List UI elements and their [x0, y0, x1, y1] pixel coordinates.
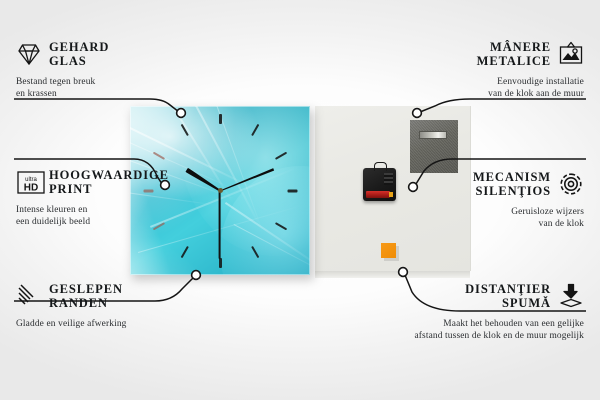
- feature-subtitle-line1: Gladde en veilige afwerking: [16, 319, 216, 331]
- feature-title-line1: GESLEPEN: [49, 282, 123, 296]
- feature-subtitle-line2: en krassen: [16, 89, 206, 101]
- feature-title-line1: HOOGWAARDIGE: [49, 168, 169, 182]
- feature-title-line1: GEHARD: [49, 40, 109, 54]
- feature-subtitle-line1: Bestand tegen breuk: [16, 77, 206, 89]
- feature-title-line2: PRINT: [49, 182, 169, 196]
- ultra-hd-icon: ultra HD: [16, 169, 42, 195]
- hanger-slot: [419, 131, 447, 139]
- infographic-canvas: GEHARD GLAS Bestand tegen breuk en krass…: [0, 0, 600, 400]
- feature-title-line2: SILENŢIOS: [476, 184, 552, 198]
- feature-subtitle-line1: Eenvoudige installatie: [394, 77, 584, 89]
- feature-title-line2: SPUMĂ: [502, 296, 551, 310]
- clock-center-pin: [218, 188, 223, 193]
- feature-subtitle-line1: Maakt het behouden van een gelijke: [330, 319, 584, 331]
- feature-manere-metalice[interactable]: MÂNERE METALICE Eenvoudige installatie v…: [394, 40, 584, 100]
- foam-spacer: [381, 243, 396, 258]
- feature-geslepen-randen[interactable]: GESLEPEN RANDEN Gladde en veilige afwerk…: [16, 282, 216, 331]
- feature-subtitle-line2: van de klok: [394, 219, 584, 231]
- clock-minute-hand: [219, 167, 274, 192]
- mechanism-vents: [384, 173, 393, 185]
- feature-hoogwaardige-print[interactable]: ultra HD HOOGWAARDIGE PRINT Intense kleu…: [16, 168, 216, 228]
- feature-title-line1: DISTANŢIER: [465, 282, 551, 296]
- clock-mechanism: [363, 168, 396, 201]
- feature-title-line2: METALICE: [477, 54, 551, 68]
- battery: [366, 191, 390, 198]
- mechanism-hook-icon: [374, 162, 387, 171]
- gear-icon: [558, 171, 584, 197]
- feature-subtitle-line2: van de klok aan de muur: [394, 89, 584, 101]
- feature-subtitle-line2: een duidelijk beeld: [16, 217, 216, 229]
- clock-second-hand: [219, 191, 221, 259]
- spacer-arrow-icon: [558, 283, 584, 309]
- picture-hanger-icon: [558, 41, 584, 67]
- feature-gehard-glas[interactable]: GEHARD GLAS Bestand tegen breuk en krass…: [16, 40, 206, 100]
- feature-mecanism-silentios[interactable]: MECANISM SILENŢIOS Geruisloze wijzers va…: [394, 170, 584, 230]
- feature-title-line1: MÂNERE: [490, 40, 551, 54]
- svg-text:HD: HD: [24, 183, 38, 194]
- feature-subtitle-line1: Geruisloze wijzers: [394, 207, 584, 219]
- feature-distantier-spuma[interactable]: DISTANŢIER SPUMĂ Maakt het behouden van …: [330, 282, 584, 342]
- feature-title-line2: GLAS: [49, 54, 109, 68]
- beveled-edges-icon: [16, 283, 42, 309]
- feature-title-line2: RANDEN: [49, 296, 123, 310]
- feature-subtitle-line2: afstand tussen de klok en de muur mogeli…: [330, 331, 584, 343]
- feature-subtitle-line1: Intense kleuren en: [16, 205, 216, 217]
- feature-title-line1: MECANISM: [473, 170, 551, 184]
- metal-hanger-plate: [410, 120, 458, 173]
- diamond-icon: [16, 41, 42, 67]
